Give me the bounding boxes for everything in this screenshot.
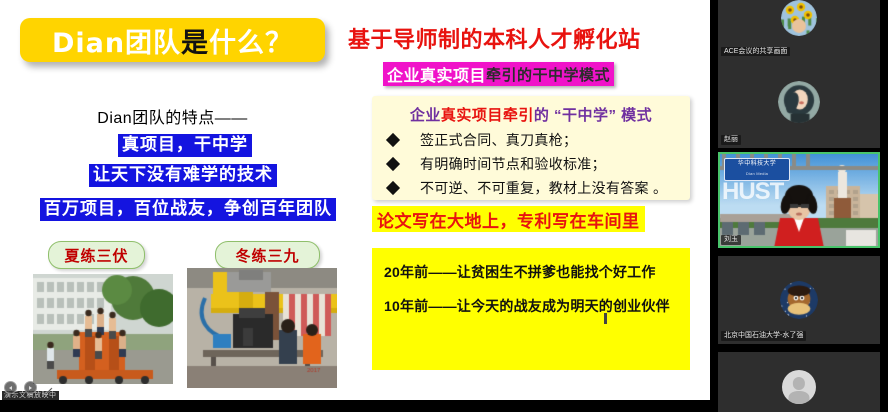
tag-summer-training: 夏练三伏	[48, 241, 145, 269]
hust-badge-sub: Dian Media	[725, 169, 789, 178]
screen-root: Dian团队是什么？ Dian团队的特点—— 真项目，干中学 让天下没有难学的技…	[0, 0, 888, 400]
bullet-row: 签正式合同、真刀真枪；	[388, 130, 682, 150]
bullet-text: 有明确时间节点和验收标准；	[420, 154, 606, 174]
bullet-row: 不可逆、不可重复，教材上没有答案 。	[388, 178, 682, 198]
diamond-bullet-icon	[386, 133, 400, 147]
participant-tile[interactable]	[718, 352, 880, 412]
previous-slide-icon[interactable]	[4, 381, 17, 394]
yellow-strip-text: 论文写在大地上，专利写在车间里	[377, 207, 640, 232]
avatar	[778, 81, 820, 123]
highlight-line-3: 百万项目，百位战友，争创百年团队	[40, 198, 336, 221]
magenta-banner: 企业真实项目 牵引的干中学模式	[383, 62, 614, 86]
yellow-box-line-1: 20年前——让贫困生不拼爹也能找个好工作	[384, 262, 678, 282]
avatar	[781, 0, 817, 36]
bullet-text: 签正式合同、真刀真枪；	[420, 130, 577, 150]
feature-label: Dian团队的特点——	[0, 104, 345, 128]
summer-training-photo	[33, 274, 173, 384]
text-cursor	[604, 313, 607, 324]
participant-name: 北京中国石油大学-水了强	[721, 331, 806, 341]
pen-annotate-icon[interactable]	[44, 383, 54, 393]
title-suffix: 什么？	[209, 28, 293, 59]
avatar	[782, 370, 816, 404]
bullet-text: 不可逆、不可重复，教材上没有答案 。	[420, 178, 667, 198]
magenta-banner-emphasis: 企业真实项目	[387, 62, 486, 86]
person-head-icon	[793, 377, 805, 389]
slide-headline: 基于导师制的本科人才孵化站	[348, 22, 641, 54]
yellow-box-line-2: 10年前——让今天的战友成为明天的创业伙伴	[384, 296, 678, 316]
cream-title-b: 真实项目牵引	[441, 107, 534, 124]
hust-watermark: HUST	[722, 178, 783, 206]
magenta-banner-rest: 牵引的干中学模式	[486, 64, 610, 85]
cream-title-c: 的 “干中学” 模式	[534, 107, 652, 124]
slide-title-pill: Dian团队是什么？	[20, 18, 325, 62]
cream-title-a: 企业	[410, 107, 441, 124]
slide-player-controls[interactable]	[4, 381, 54, 394]
participant-tile[interactable]: 北京中国石油大学-水了强	[718, 256, 880, 344]
person-body-icon	[788, 391, 809, 404]
winter-training-photo	[187, 268, 337, 388]
hust-badge-title: 华中科技大学	[725, 160, 789, 169]
participant-name: 刘玉	[721, 235, 741, 245]
participant-tile[interactable]: ACE会议的共享画面	[718, 0, 880, 60]
participant-tile[interactable]: 赵丽	[718, 56, 880, 148]
next-slide-icon[interactable]	[24, 381, 37, 394]
shared-slide[interactable]: Dian团队是什么？ Dian团队的特点—— 真项目，干中学 让天下没有难学的技…	[0, 0, 710, 400]
cream-panel-title: 企业真实项目牵引的 “干中学” 模式	[372, 104, 690, 125]
highlight-line-2: 让天下没有难学的技术	[89, 164, 277, 187]
participant-name: 赵丽	[721, 135, 741, 145]
participant-tile-active[interactable]: 华中科技大学 Dian Media HUST 刘玉	[718, 152, 880, 248]
avatar	[780, 281, 818, 319]
highlight-line-1: 真项目，干中学	[118, 134, 252, 157]
diamond-bullet-icon	[386, 181, 400, 195]
tag-winter-training: 冬练三九	[215, 241, 320, 269]
cream-panel: 企业真实项目牵引的 “干中学” 模式 签正式合同、真刀真枪； 有明确时间节点和验…	[372, 96, 690, 200]
cream-panel-bullets: 签正式合同、真刀真枪； 有明确时间节点和验收标准； 不可逆、不可重复，教材上没有…	[388, 130, 682, 202]
yellow-strip: 论文写在大地上，专利写在车间里	[372, 206, 645, 232]
title-prefix: Dian团队	[52, 28, 181, 59]
diamond-bullet-icon	[386, 157, 400, 171]
title-emphasis: 是	[181, 28, 209, 59]
page-title: Dian团队是什么？	[52, 21, 293, 60]
bullet-row: 有明确时间节点和验收标准；	[388, 154, 682, 174]
participant-rail[interactable]: ACE会议的共享画面 赵丽 华中科技大学 Dian Media HUST 刘玉 …	[710, 0, 888, 400]
yellow-box: 20年前——让贫困生不拼爹也能找个好工作 10年前——让今天的战友成为明天的创业…	[372, 248, 690, 370]
